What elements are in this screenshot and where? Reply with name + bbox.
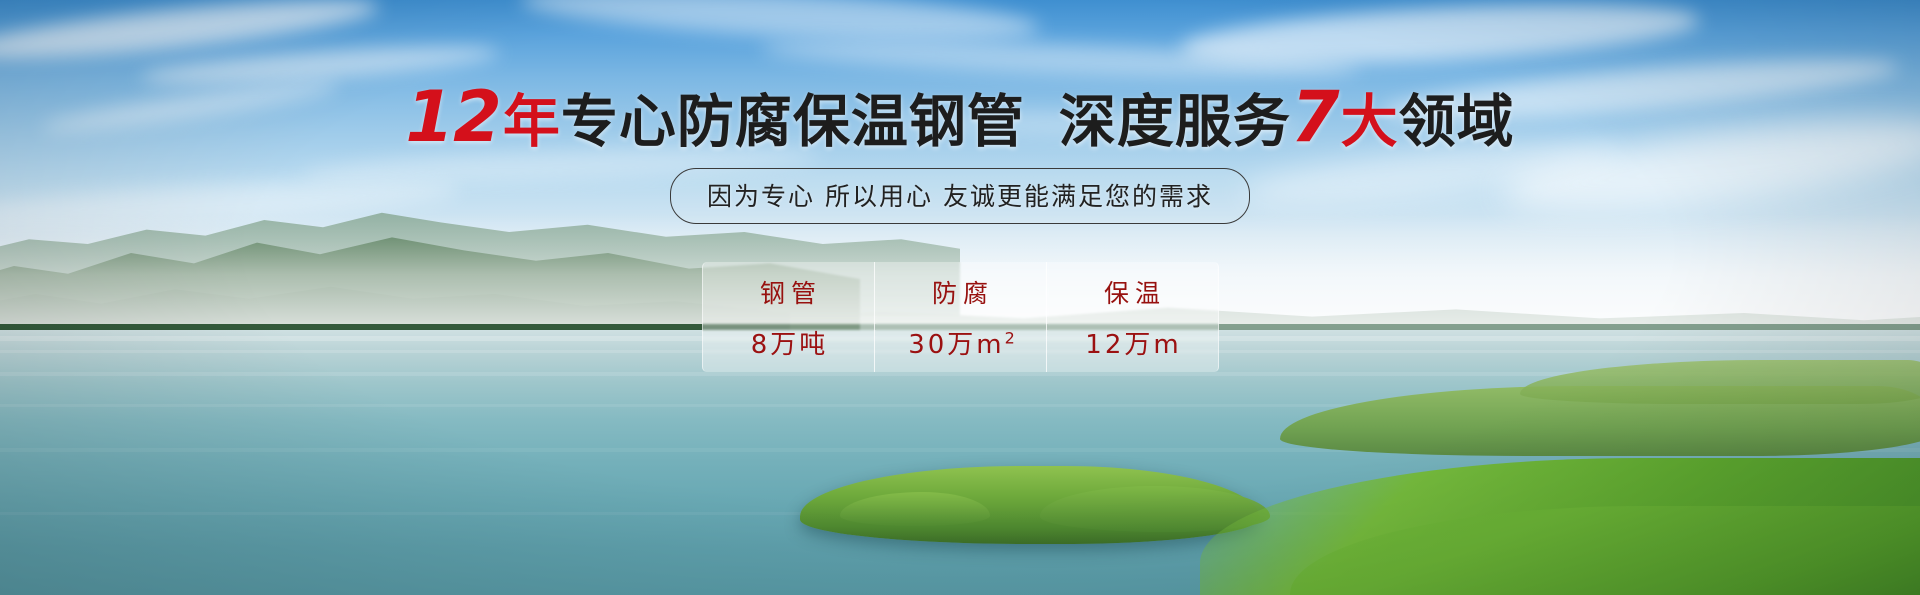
headline-field-number: 7 xyxy=(1291,76,1341,158)
stat-card-anticorrosion[interactable]: 防腐 30万m2 xyxy=(875,262,1047,372)
headline-year-number: 12 xyxy=(405,76,502,158)
stat-label: 防腐 xyxy=(926,274,994,310)
banner-headline: 12年专心防腐保温钢管深度服务7大领域 xyxy=(0,82,1920,152)
banner-content: 12年专心防腐保温钢管深度服务7大领域 因为专心 所以用心 友诚更能满足您的需求… xyxy=(0,0,1920,595)
headline-field-unit: 大 xyxy=(1341,89,1399,155)
stat-cards: 钢管 8万吨 防腐 30万m2 保温 12万m xyxy=(0,262,1920,372)
stat-value: 12万m xyxy=(1082,324,1181,361)
headline-year-unit: 年 xyxy=(503,89,561,155)
promo-banner: 12年专心防腐保温钢管深度服务7大领域 因为专心 所以用心 友诚更能满足您的需求… xyxy=(0,0,1920,595)
stat-label: 保温 xyxy=(1098,274,1166,310)
stat-card-group: 钢管 8万吨 防腐 30万m2 保温 12万m xyxy=(702,262,1219,372)
stat-card-steel-pipe[interactable]: 钢管 8万吨 xyxy=(702,262,875,372)
headline-segment-one: 专心防腐保温钢管 xyxy=(561,89,1025,155)
stat-value: 30万m2 xyxy=(905,324,1015,361)
stat-value-text: 30万m xyxy=(908,330,1004,360)
stat-value-text: 8万吨 xyxy=(751,330,829,360)
stat-value-text: 12万m xyxy=(1085,330,1181,360)
banner-subtitle-pill: 因为专心 所以用心 友诚更能满足您的需求 xyxy=(670,168,1250,224)
headline-segment-two: 深度服务 xyxy=(1059,89,1291,155)
stat-label: 钢管 xyxy=(754,274,822,310)
stat-value: 8万吨 xyxy=(748,324,829,361)
stat-value-superscript: 2 xyxy=(1005,328,1015,347)
headline-segment-three: 领域 xyxy=(1399,89,1515,155)
stat-card-insulation[interactable]: 保温 12万m xyxy=(1047,262,1219,372)
banner-subtitle-wrapper: 因为专心 所以用心 友诚更能满足您的需求 xyxy=(0,168,1920,224)
